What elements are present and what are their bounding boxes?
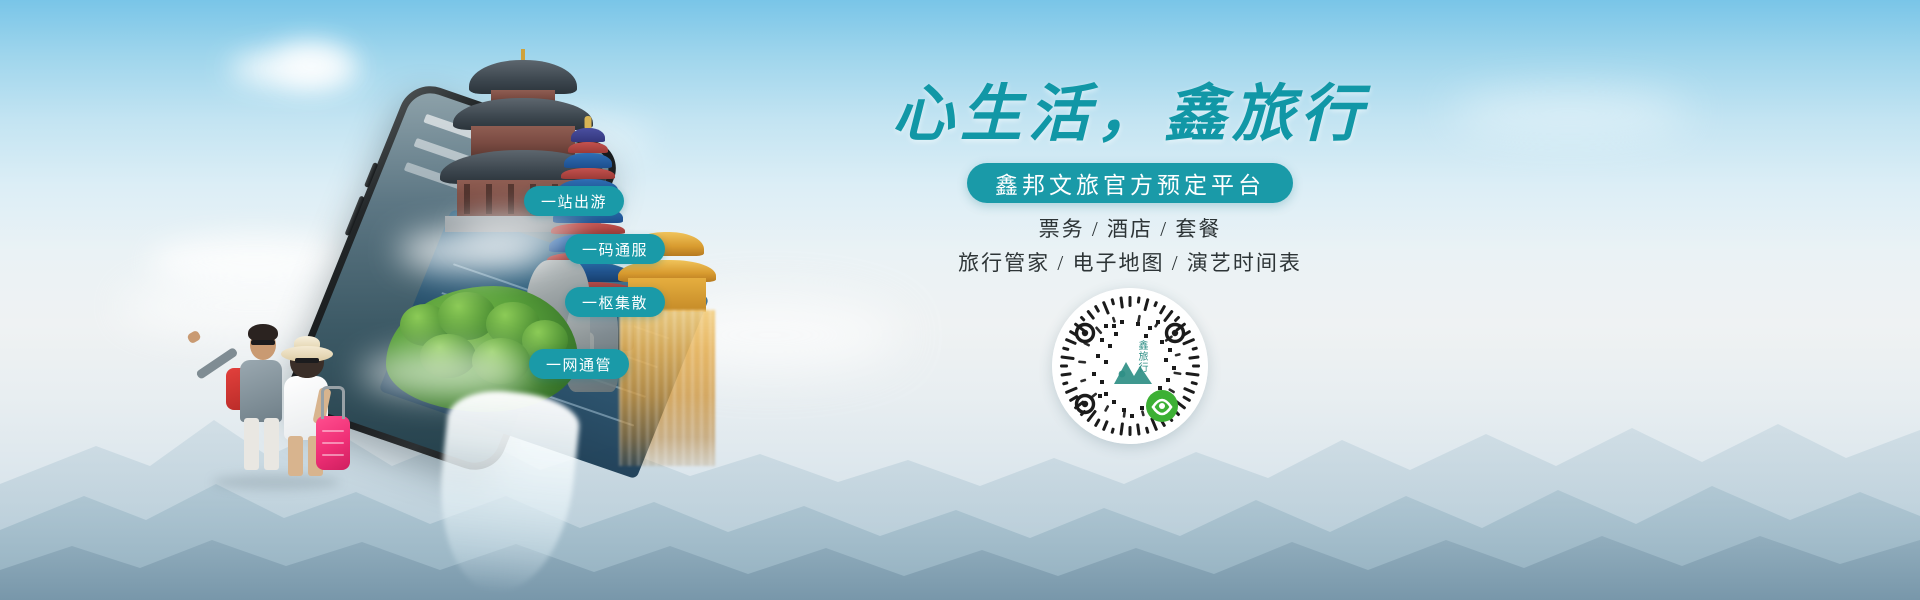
wechat-badge-icon — [1146, 390, 1178, 422]
feature-pill-3[interactable]: 一网通管 — [529, 349, 629, 379]
cloud-decor — [1450, 90, 1690, 136]
pagoda-roof — [469, 60, 577, 94]
ground-shadow — [212, 474, 340, 490]
platform-badge: 鑫邦文旅官方预定平台 — [967, 163, 1293, 203]
mist-decor — [360, 350, 530, 396]
traveller-group — [188, 292, 368, 492]
mist-decor — [460, 214, 580, 250]
service-line-1: 旅行管家 / 电子地图 / 演艺时间表 — [820, 246, 1440, 280]
service-list: 票务 / 酒店 / 套餐 旅行管家 / 电子地图 / 演艺时间表 — [820, 212, 1440, 280]
feature-pill-1[interactable]: 一码通服 — [565, 234, 665, 264]
service-line-0: 票务 / 酒店 / 套餐 — [820, 212, 1440, 246]
platform-badge-label: 鑫邦文旅官方预定平台 — [995, 166, 1265, 200]
marketing-text-block: 心生活，鑫旅行 鑫邦文旅官方预定平台 票务 / 酒店 / 套餐 旅行管家 / 电… — [820, 0, 1440, 600]
feature-pill-0[interactable]: 一站出游 — [524, 186, 624, 216]
male-torso — [240, 360, 282, 422]
qr-brand-label: 鑫旅行 — [1136, 340, 1147, 373]
feature-pill-label: 一枢集散 — [582, 292, 648, 313]
qr-disc — [1052, 288, 1208, 444]
sunglasses-icon — [295, 358, 319, 363]
feature-pill-2[interactable]: 一枢集散 — [565, 287, 665, 317]
golden-pavilion-waterfall-landmark — [608, 232, 726, 472]
promo-banner: 一站出游 一码通服 一枢集散 一网通管 心生活，鑫旅行 鑫邦文旅官方预定平台 票… — [0, 0, 1920, 600]
feature-pill-label: 一网通管 — [546, 354, 612, 375]
feature-pill-label: 一站出游 — [541, 191, 607, 212]
pointing-hand — [186, 330, 201, 345]
page-title: 心生活，鑫旅行 — [820, 84, 1440, 146]
water-splash — [430, 386, 582, 599]
waterfall — [619, 310, 715, 466]
mini-program-qr-code[interactable]: 鑫旅行 — [1052, 288, 1208, 444]
rolling-suitcase — [316, 416, 350, 470]
sunglasses-icon — [251, 340, 275, 345]
feature-pill-label: 一码通服 — [582, 239, 648, 260]
